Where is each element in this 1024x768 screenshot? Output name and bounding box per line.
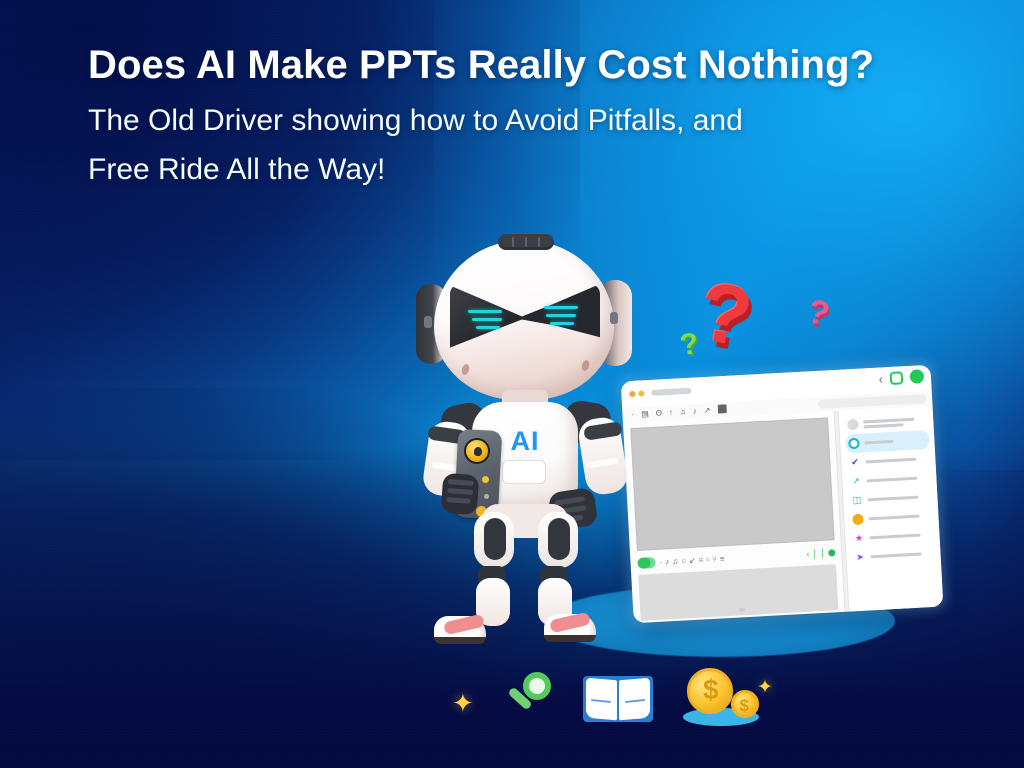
robot-eye-line	[550, 322, 574, 325]
sidebar-label-line	[863, 423, 903, 428]
sidebar-row-label	[868, 514, 930, 520]
sidebar-row-label	[869, 533, 931, 539]
sidebar-row-label	[863, 417, 925, 428]
robot-chest-ai-label: AI	[494, 428, 556, 455]
sidebar-label-line	[867, 496, 918, 502]
bottom-toolbar-glyph[interactable]: ≡	[720, 555, 725, 563]
bookmark-icon-glyph: ✔	[849, 457, 861, 469]
sun-circle-icon[interactable]	[852, 514, 864, 526]
robot-sole-left	[434, 637, 486, 644]
magnifier-ring	[523, 672, 551, 700]
wand-icon-glyph: ↗	[850, 476, 862, 488]
page-subtitle: The Old Driver showing how to Avoid Pitf…	[88, 97, 928, 194]
robot-eye-line	[546, 314, 576, 317]
pager-glyph[interactable]: ‹	[806, 550, 809, 558]
bottom-toolbar-glyph[interactable]: ⑂	[712, 555, 717, 563]
back-chevron-icon[interactable]: ‹	[878, 372, 883, 385]
cursor-icon-glyph: ➤	[854, 552, 866, 564]
stop-square-icon[interactable]	[890, 371, 904, 385]
robot-eye-line	[476, 326, 500, 329]
pager-glyph[interactable]: │	[812, 550, 817, 558]
pager-controls[interactable]: ‹││	[806, 549, 835, 559]
star-square-icon[interactable]: ★	[853, 533, 865, 545]
sidebar-label-line	[868, 515, 919, 521]
app-window[interactable]: ‹ ·▤ʘ↑♫♪↗⬛ ·♪♫○↙⌗▫⑂≡ ‹││	[610, 356, 953, 629]
bottom-toolbar-glyph[interactable]: ♪	[665, 558, 669, 566]
toolbar-glyph[interactable]: ⬛	[717, 405, 727, 414]
robot-hand-left	[441, 473, 480, 515]
toolbar-glyph[interactable]: ↗	[704, 406, 711, 414]
window-frame: ‹ ·▤ʘ↑♫♪↗⬛ ·♪♫○↙⌗▫⑂≡ ‹││	[621, 365, 944, 623]
toolbar-glyph[interactable]: ↑	[669, 408, 673, 416]
sparkle-icon: ✦	[757, 678, 773, 697]
wand-icon[interactable]: ↗	[850, 476, 862, 488]
sidebar-row-label	[867, 495, 929, 501]
pager-next-icon[interactable]	[828, 549, 835, 556]
coin-dollar-large: $	[703, 676, 719, 704]
sidebar-label-line	[865, 458, 916, 464]
slide-canvas-area[interactable]	[630, 417, 834, 551]
titlebar-placeholder	[651, 388, 691, 396]
subtitle-line-2: Free Ride All the Way!	[88, 146, 928, 195]
sidebar-label-line	[869, 534, 920, 540]
robot-eye-line	[544, 306, 578, 309]
sidebar-row-label	[865, 457, 927, 463]
bottom-toolbar-glyph[interactable]: ♫	[672, 557, 678, 565]
sidebar-row-label	[866, 476, 928, 482]
cursor-icon[interactable]: ➤	[854, 552, 866, 564]
bottom-toolbar-glyph[interactable]: ▫	[706, 556, 709, 564]
subtitle-line-1: The Old Driver showing how to Avoid Pitf…	[88, 104, 743, 137]
robot-ear-detail-right	[610, 312, 618, 324]
bottom-toolbar-glyph[interactable]: ↙	[689, 556, 696, 564]
thumbnail-tray[interactable]	[638, 564, 838, 621]
robot-eye-line	[468, 310, 502, 313]
sidebar-label-line	[863, 417, 914, 423]
robot-mascot: AI	[398, 232, 648, 662]
robot-crest	[498, 234, 554, 250]
bookmark-icon[interactable]: ✔	[849, 457, 861, 469]
page-title: Does AI Make PPTs Really Cost Nothing?	[88, 44, 988, 86]
window-sidebar[interactable]: ✔↗◫★➤	[839, 406, 944, 612]
window-controls[interactable]: ‹	[878, 369, 924, 385]
headline-block: Does AI Make PPTs Really Cost Nothing? T…	[88, 44, 988, 195]
window-body: ·♪♫○↙⌗▫⑂≡ ‹││ ✔↗◫★➤	[623, 406, 943, 623]
toolbar-glyph[interactable]: ♫	[680, 408, 686, 416]
window-main-pane: ·♪♫○↙⌗▫⑂≡ ‹││	[623, 411, 845, 623]
robot-thigh-detail	[548, 518, 570, 560]
star-square-icon-glyph: ★	[853, 533, 865, 545]
device-indicator-dot	[484, 494, 489, 499]
bottom-toolbar-glyph[interactable]: ○	[681, 557, 686, 565]
toolbar-glyph[interactable]: ʘ	[656, 409, 663, 417]
sidebar-row-label	[864, 438, 926, 444]
coin-dollar-small: $	[740, 697, 749, 714]
tray-handle	[739, 608, 745, 611]
sidebar-row-label	[870, 552, 932, 558]
slide-canvas: Does AI Make PPTs Really Cost Nothing? T…	[0, 0, 1024, 768]
pager-glyph[interactable]: │	[820, 549, 825, 557]
sidebar-label-line	[864, 440, 893, 445]
sidebar-label-line	[870, 553, 921, 559]
robot-ear-detail-left	[424, 316, 432, 328]
record-circle-icon[interactable]	[910, 369, 925, 384]
magnifier-icon	[505, 672, 555, 720]
ring-icon[interactable]	[848, 438, 860, 450]
open-book-icon	[583, 676, 653, 722]
robot-sole-right	[544, 635, 596, 642]
image-square-icon[interactable]: ◫	[851, 495, 863, 507]
sparkle-icon: ✦	[452, 690, 474, 716]
robot-eye-line	[472, 318, 502, 321]
sidebar-row-7[interactable]: ➤	[851, 544, 936, 568]
bottom-toolbar-glyphs[interactable]: ·♪♫○↙⌗▫⑂≡	[659, 555, 724, 567]
robot-chest-panel	[502, 460, 546, 484]
toolbar-glyph[interactable]: ♪	[693, 407, 697, 415]
bottom-toolbar-glyph[interactable]: ⌗	[699, 556, 704, 564]
gold-coins-icon: $ $	[679, 668, 763, 726]
image-square-icon-glyph: ◫	[851, 495, 863, 507]
avatar-icon[interactable]	[847, 419, 859, 431]
bottom-toolbar-glyph[interactable]: ·	[659, 558, 662, 566]
question-mark-small-icon: ?	[678, 329, 700, 361]
device-indicator-dot	[482, 476, 489, 483]
sidebar-label-line	[866, 477, 917, 483]
robot-thigh-detail	[484, 518, 506, 560]
